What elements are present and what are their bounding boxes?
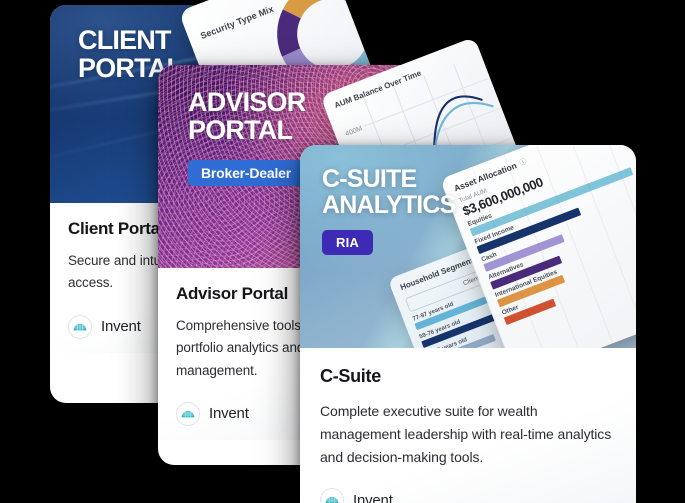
card-c-suite-analytics-description: Complete executive suite for wealth mana…	[320, 400, 616, 468]
card-c-suite-analytics-body: C-Suite Complete executive suite for wea…	[300, 348, 636, 503]
card-c-suite-analytics-title: C-Suite	[320, 366, 616, 387]
card-c-suite-analytics-brand-row: Invent	[320, 488, 616, 503]
card-advisor-portal-hero-title: ADVISOR PORTAL	[188, 89, 305, 145]
card-c-suite-analytics-header: Household Segmentation b Clients 77-97 y…	[300, 145, 636, 348]
invent-dome-logo-icon	[68, 315, 92, 339]
card-client-portal-brand-name: Invent	[101, 318, 141, 335]
card-c-suite-analytics-brand-name: Invent	[353, 492, 393, 503]
card-c-suite-analytics-hero-title: C-SUITE ANALYTICS	[322, 167, 456, 219]
cards-stage: CLIENT PORTAL Client Portal Secure and i…	[0, 0, 685, 503]
info-icon[interactable]: ⓘ	[518, 156, 528, 168]
invent-dome-logo-icon	[320, 488, 344, 503]
card-advisor-portal-brand-name: Invent	[209, 405, 249, 422]
card-c-suite-analytics[interactable]: Household Segmentation b Clients 77-97 y…	[300, 145, 636, 503]
card-advisor-portal-badge: Broker-Dealer	[188, 160, 304, 186]
invent-dome-logo-icon	[176, 402, 200, 426]
card-c-suite-analytics-badge: RIA	[322, 230, 373, 255]
